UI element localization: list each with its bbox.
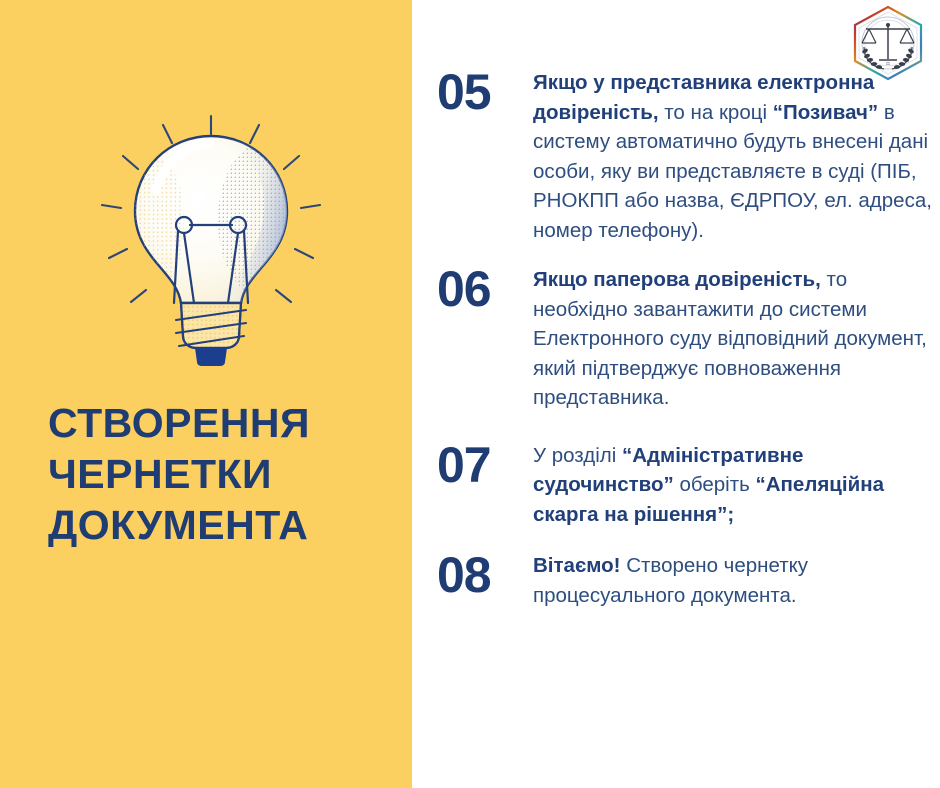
step-text: Якщо у представника електронна довіреніс… xyxy=(533,62,937,245)
step-text: У розділі “Адміністративне судочинство” … xyxy=(533,435,937,530)
steps-list: 05 Якщо у представника електронна довіре… xyxy=(437,62,937,610)
step-item-08: 08 Вітаємо! Створено чернетку процесуаль… xyxy=(437,545,937,610)
text-run: У розділі xyxy=(533,444,622,467)
page-title-line-1: СТВОРЕННЯ xyxy=(48,398,398,449)
page-title-line-2: ЧЕРНЕТКИ xyxy=(48,449,398,500)
text-emphasis: Якщо паперова довіреність, xyxy=(533,268,821,291)
step-item-06: 06 Якщо паперова довіреність, то необхід… xyxy=(437,259,937,413)
step-text: Якщо паперова довіреність, то необхідно … xyxy=(533,259,937,413)
step-number: 07 xyxy=(437,435,533,491)
page-title: СТВОРЕННЯ ЧЕРНЕТКИ ДОКУМЕНТА xyxy=(48,398,398,551)
page-title-line-3: ДОКУМЕНТА xyxy=(48,500,398,551)
step-text: Вітаємо! Створено чернетку процесуальног… xyxy=(533,545,937,610)
text-emphasis: “Позивач” xyxy=(773,101,878,124)
step-number: 05 xyxy=(437,62,533,118)
right-content-panel: ⚖ 05 Якщо у представника електронна дові… xyxy=(412,0,940,788)
step-item-05: 05 Якщо у представника електронна довіре… xyxy=(437,62,937,245)
infographic-canvas: СТВОРЕННЯ ЧЕРНЕТКИ ДОКУМЕНТА xyxy=(0,0,940,788)
text-emphasis: Вітаємо! xyxy=(533,554,621,577)
step-number: 06 xyxy=(437,259,533,315)
text-run: оберіть xyxy=(674,473,756,496)
step-number: 08 xyxy=(437,545,533,601)
step-item-07: 07 У розділі “Адміністративне судочинств… xyxy=(437,435,937,530)
lightbulb-icon xyxy=(86,112,336,372)
text-run: то на кроці xyxy=(659,101,773,124)
left-yellow-panel: СТВОРЕННЯ ЧЕРНЕТКИ ДОКУМЕНТА xyxy=(0,0,412,788)
